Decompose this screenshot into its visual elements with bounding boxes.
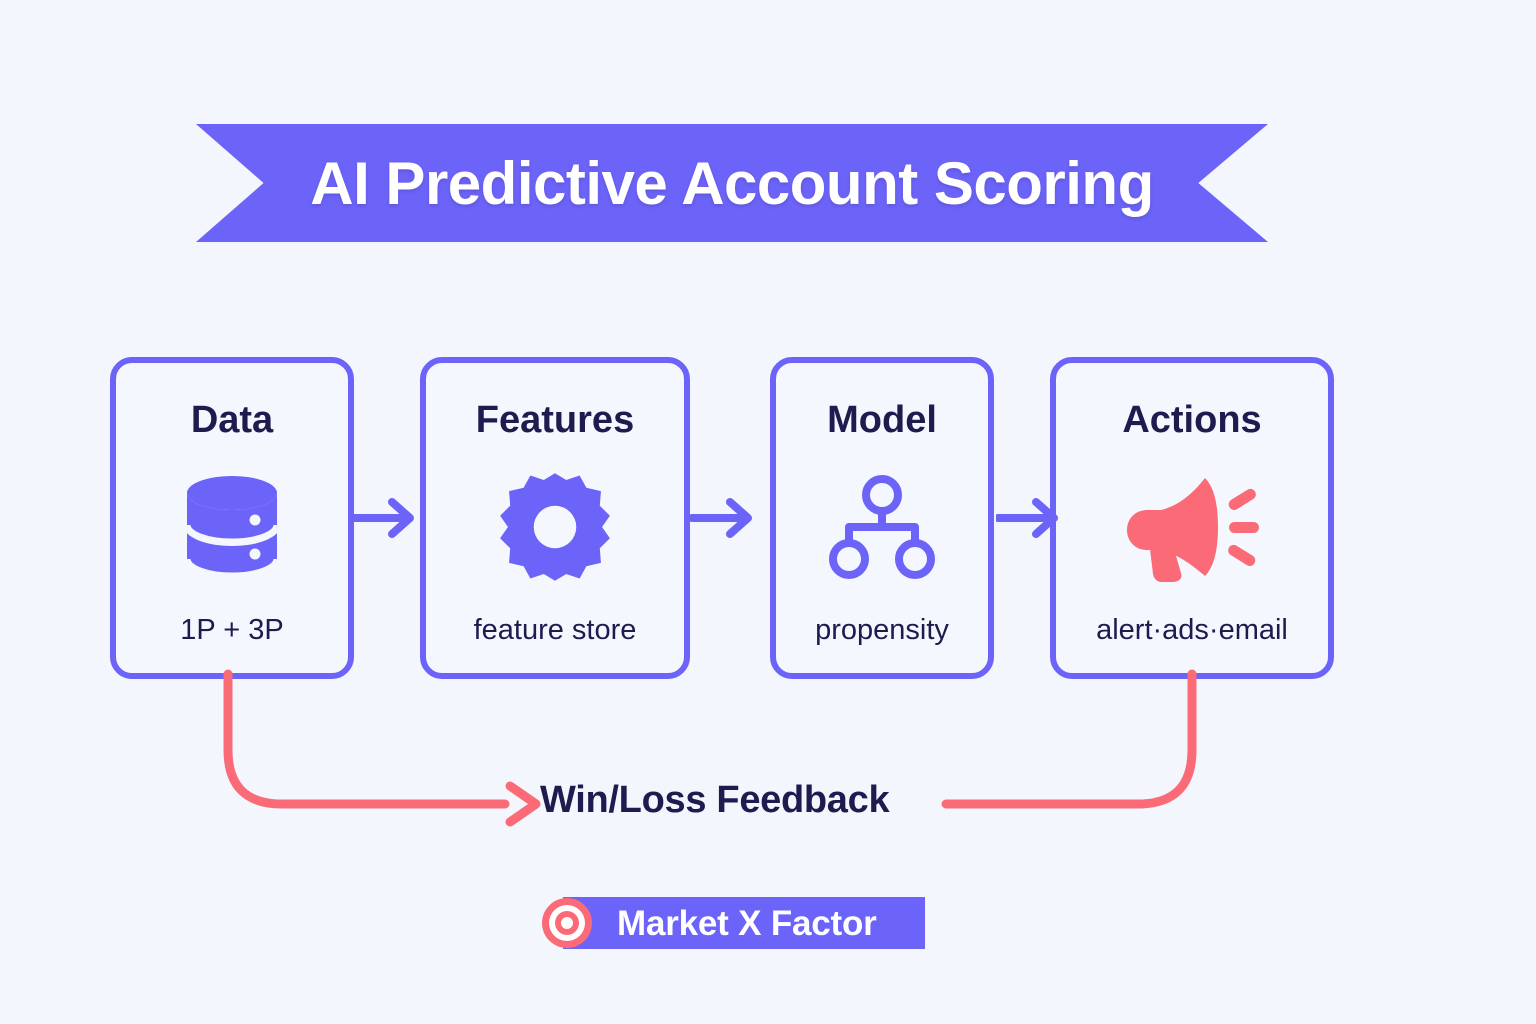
step-title: Model: [827, 401, 937, 439]
database-icon: [177, 473, 287, 581]
step-caption: propensity: [815, 614, 949, 647]
feedback-label: Win/Loss Feedback: [540, 779, 889, 822]
arrow-right-icon: [690, 492, 760, 544]
step-caption: 1P + 3P: [180, 614, 283, 647]
step-title: Actions: [1122, 401, 1261, 439]
step-title: Features: [476, 401, 634, 439]
title-ribbon: AI Predictive Account Scoring: [196, 124, 1268, 242]
pipeline-step-model[interactable]: Model propensity: [770, 357, 994, 679]
connector-model-to-actions: [996, 492, 1066, 544]
step-title: Data: [191, 401, 273, 439]
feedback-arrowhead-icon: [510, 786, 536, 822]
step-caption: feature store: [474, 614, 637, 647]
diagram-canvas: AI Predictive Account Scoring Data 1P + …: [0, 0, 1536, 1024]
step-icon-slot: [116, 439, 348, 614]
step-caption: alert·ads·email: [1096, 614, 1288, 647]
hierarchy-tree-icon: [829, 475, 935, 579]
megaphone-icon: [1117, 472, 1267, 582]
bullseye-target-icon: [541, 897, 593, 949]
pipeline-step-data[interactable]: Data 1P + 3P: [110, 357, 354, 679]
feedback-path-to-data: [228, 674, 505, 804]
brand-name: Market X Factor: [617, 906, 877, 941]
pipeline-step-features[interactable]: Features feature store: [420, 357, 690, 679]
brand-badge: Market X Factor: [541, 897, 877, 949]
connector-data-to-features: [352, 492, 422, 544]
step-icon-slot: [426, 439, 684, 614]
connector-features-to-model: [690, 492, 760, 544]
step-icon-slot: [1056, 439, 1328, 614]
step-icon-slot: [776, 439, 988, 614]
arrow-right-icon: [352, 492, 422, 544]
feedback-path-from-actions: [946, 674, 1192, 804]
gear-icon: [499, 471, 611, 583]
arrow-right-icon: [996, 492, 1066, 544]
pipeline-step-actions[interactable]: Actions alert·ads·email: [1050, 357, 1334, 679]
page-title: AI Predictive Account Scoring: [196, 124, 1268, 242]
